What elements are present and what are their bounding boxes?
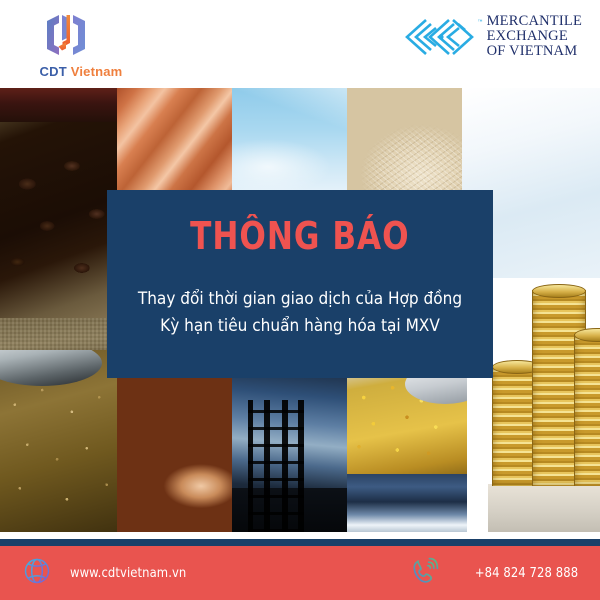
coin-top: [574, 328, 600, 342]
notice-body-line1: Thay đổi thời gian giao dịch của Hợp đồn…: [133, 285, 468, 312]
notice-body: Thay đổi thời gian giao dịch của Hợp đồn…: [133, 285, 468, 339]
mxv-wordmark-line2: EXCHANGE: [487, 29, 582, 44]
cdt-hexagon-logo-icon: [36, 12, 96, 60]
footer-phone-text[interactable]: +84 824 728 888: [475, 565, 578, 581]
notice-card: THÔNG BÁO Thay đổi thời gian giao dịch c…: [107, 190, 493, 378]
phone-ringing-icon: [410, 556, 440, 591]
sack-shadow: [0, 88, 124, 122]
cdt-vietnam-logo: CDT Vietnam: [26, 12, 146, 82]
coin-stack: [532, 290, 586, 486]
footer-divider: [0, 539, 600, 546]
footer-website-group[interactable]: www.cdtvietnam.vn: [22, 546, 205, 600]
coffee-beans-in-sack-image: [0, 88, 124, 388]
cdt-vietnam-wordmark: CDT Vietnam: [26, 64, 136, 79]
footer-website-text[interactable]: www.cdtvietnam.vn: [70, 565, 186, 581]
metal-pan-rim: [0, 350, 102, 386]
cdt-word-secondary: Vietnam: [71, 64, 123, 79]
cocoa-rolls-image: [117, 368, 237, 532]
mxv-wordmark-line3: OF VIETNAM: [487, 44, 582, 59]
copper-pipes-image: [117, 88, 237, 193]
mxv-chevron-maze-logo-icon: ™: [404, 17, 478, 57]
coin-top: [492, 360, 542, 374]
coin-stack: [492, 366, 542, 486]
gold-coin-stacks-image: [488, 192, 600, 532]
coin-stack: [574, 334, 600, 486]
rig-deck: [232, 488, 352, 532]
coin-top: [532, 284, 586, 298]
globe-icon: [22, 556, 52, 591]
mxv-logo: ™ MERCANTILE EXCHANGE OF VIETNAM: [404, 14, 582, 59]
coin-surface: [488, 484, 600, 532]
trademark-symbol: ™: [478, 19, 483, 25]
notice-body-line2: Kỳ hạn tiêu chuẩn hàng hóa tại MXV: [133, 312, 468, 339]
mxv-wordmark-line1: MERCANTILE: [487, 14, 582, 29]
blue-sky-image: [232, 88, 352, 193]
announcement-poster: CDT Vietnam: [0, 0, 600, 600]
notice-title: THÔNG BÁO: [190, 217, 410, 255]
rig-tower: [248, 400, 304, 532]
mxv-wordmark: MERCANTILE EXCHANGE OF VIETNAM: [487, 14, 582, 59]
poster-footer: www.cdtvietnam.vn: [0, 546, 600, 600]
corn-kernels-bowl-image: [347, 368, 467, 532]
poster-header: CDT Vietnam: [0, 0, 600, 88]
oil-rig-at-dusk-image: [232, 368, 352, 532]
steel-bowl-body: [347, 474, 467, 532]
footer-phone-group[interactable]: +84 824 728 888: [410, 546, 578, 600]
cdt-word-primary: CDT: [40, 64, 71, 79]
soybeans-in-pan-image: [0, 350, 124, 532]
